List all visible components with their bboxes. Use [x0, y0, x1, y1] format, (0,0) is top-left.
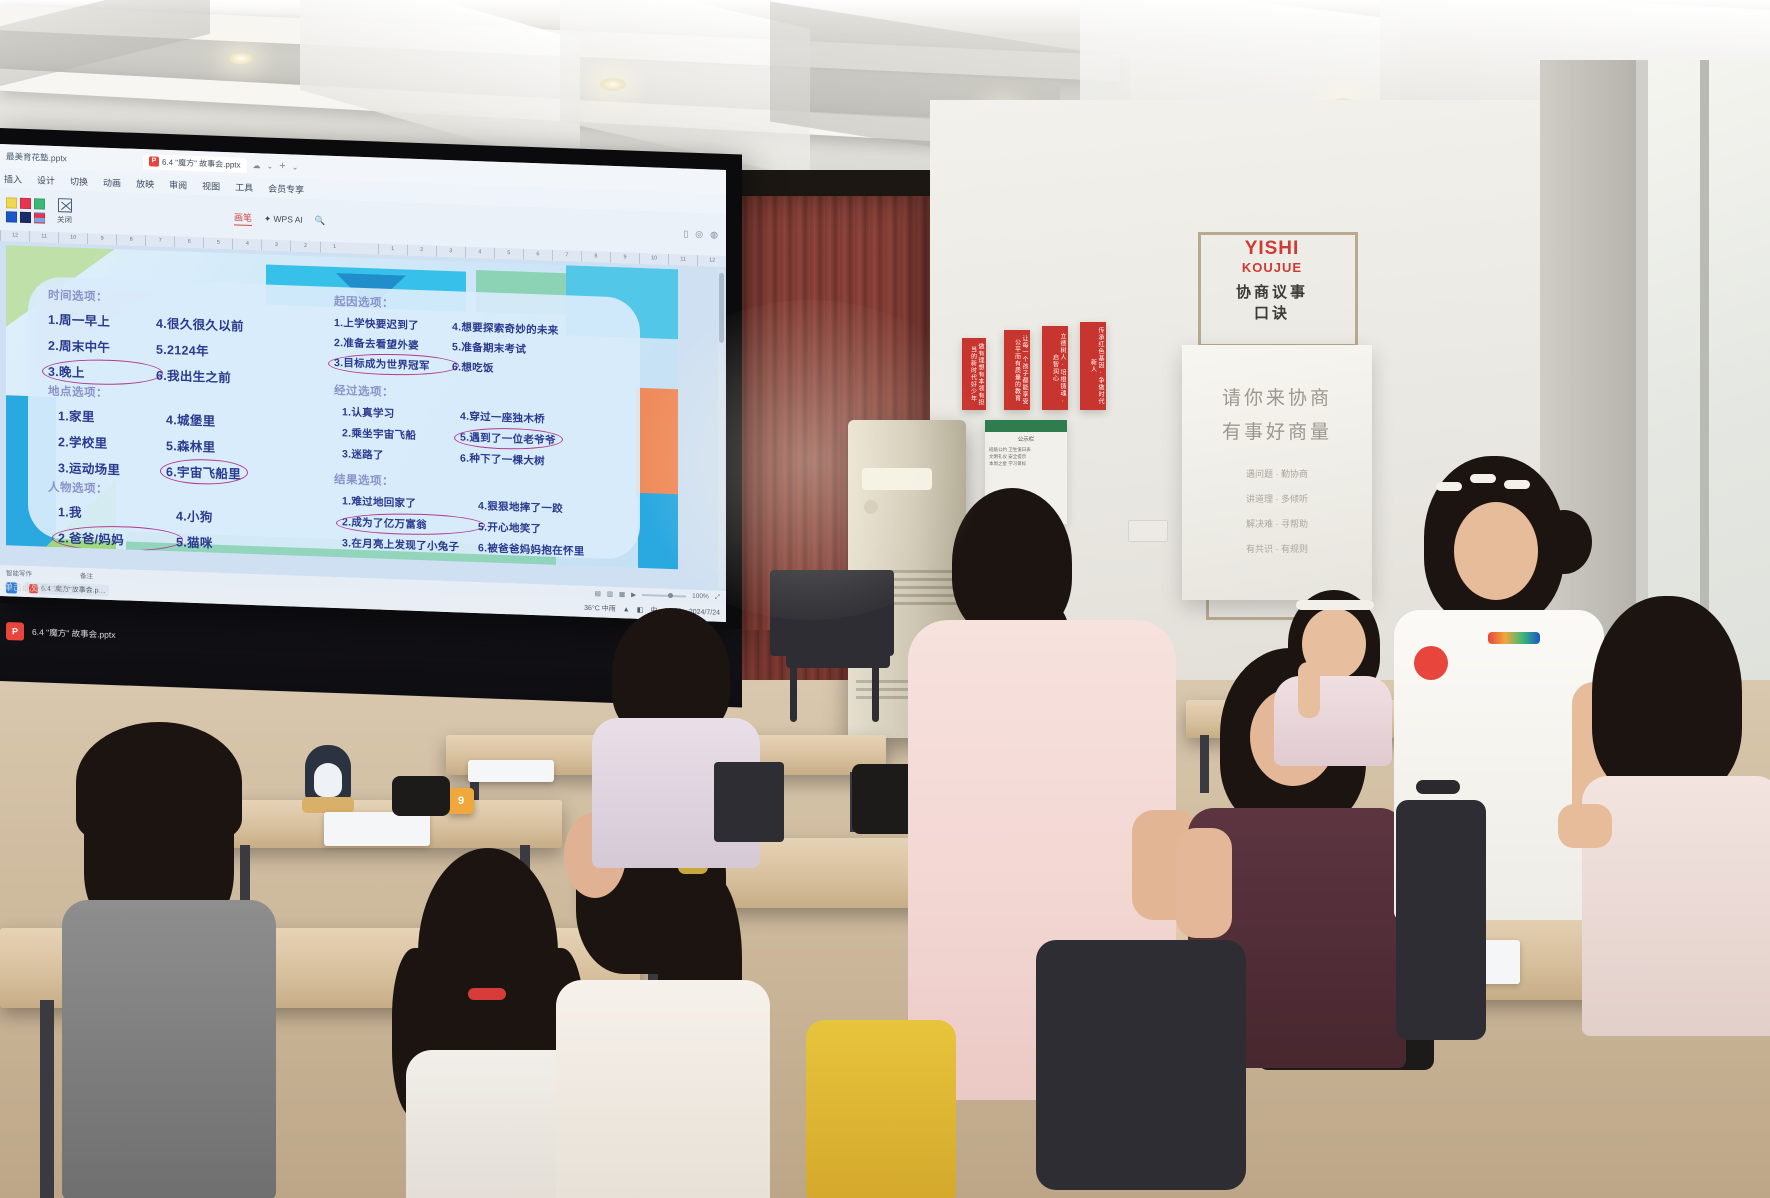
option-cell[interactable]: 6.我出生之前 [156, 365, 231, 387]
whiteboard-item-0: 遇问题 · 勤协商 [1182, 467, 1372, 480]
screen-app-label: 6.4 "魔方" 故事会.pptx [32, 626, 116, 641]
desk-leg [40, 1000, 54, 1198]
screen-glow [620, 300, 1000, 620]
option-cell[interactable]: 1.周一早上 [48, 309, 156, 332]
shirt-rainbow [1488, 632, 1540, 644]
powerpoint-icon: P [149, 156, 159, 166]
option-cell[interactable]: 5.准备期末考试 [452, 339, 526, 357]
yellow-bag[interactable] [806, 1020, 956, 1198]
option-cell[interactable]: 4.小狗 [176, 505, 213, 525]
wps-ai-button[interactable]: ✦ WPS AI [264, 213, 303, 225]
torso [556, 980, 770, 1198]
red-banner-3: 传承红色基因 · 争做时代新人 [1080, 322, 1106, 410]
reading-view-icon[interactable]: ▦ [619, 590, 625, 598]
close-pen-label: 关闭 [57, 214, 72, 226]
smart-writing-button[interactable]: 智能写作 [6, 567, 32, 578]
option-cell[interactable]: 5.猫咪 [176, 531, 213, 551]
color-swatch-grid[interactable] [6, 197, 45, 223]
whiteboard-line2: 有事好商量 [1182, 417, 1372, 444]
wps-ai-label: WPS AI [274, 213, 303, 224]
document-tab[interactable]: P 6.4 "魔方" 故事会.pptx [143, 154, 247, 173]
option-cell[interactable]: 4.狠狠地摔了一跤 [478, 498, 563, 516]
color-swatch[interactable] [6, 211, 17, 222]
option-cell[interactable]: 2.周末中午 [48, 335, 156, 358]
hair [1592, 596, 1742, 796]
note-icon[interactable]: ▯ [683, 228, 688, 239]
zoom-slider[interactable] [642, 593, 686, 597]
option-cell[interactable]: 4.很久很久以前 [156, 313, 244, 335]
slide-content[interactable]: 时间选项： 1.周一早上 4.很久很久以前 2.周末中午 5.2124年 3.晚… [6, 245, 678, 569]
chair-leg [790, 660, 797, 722]
ceiling-downlight [600, 78, 626, 91]
penguin-belly [314, 763, 342, 797]
dice-value: 9 [458, 795, 464, 807]
chair[interactable] [1036, 940, 1246, 1190]
hair-clip-2 [1504, 480, 1530, 489]
option-cell[interactable]: 1.认真学习 [342, 404, 460, 423]
worksheet-paper[interactable] [468, 760, 554, 782]
wrist-band [1416, 780, 1460, 794]
background-file-label: 最美育花塾.pptx [6, 150, 67, 164]
option-cell[interactable]: 3.运动场里 [58, 457, 166, 480]
arm [1298, 662, 1320, 718]
classroom-scene: 最美育花塾.pptx P 6.4 "魔方" 故事会.pptx ☁ ⌄ + ⌄ 插… [0, 0, 1770, 1198]
chair[interactable] [714, 762, 784, 842]
slide-group-place: 地点选项： 1.家里 4.城堡里 2.学校里 5.森林里 3.运动场里 6.宇宙… [48, 383, 241, 483]
color-swatch[interactable] [34, 198, 45, 209]
chevron-down-icon-2[interactable]: ⌄ [292, 162, 299, 171]
option-cell[interactable]: 2.学校里 [58, 431, 166, 454]
menu-item-5[interactable]: 审阅 [169, 178, 187, 192]
wall-display[interactable]: 最美育花塾.pptx P 6.4 "魔方" 故事会.pptx ☁ ⌄ + ⌄ 插… [0, 128, 742, 630]
ruler-tick [349, 248, 378, 249]
hair-tie-red [468, 988, 506, 1000]
wifi-icon[interactable]: ▲ [623, 606, 630, 613]
hair-bun [1536, 510, 1592, 574]
option-cell[interactable]: 2.准备去看望外婆 [334, 335, 452, 354]
torso [1274, 676, 1392, 766]
option-cell[interactable]: 6.想吃饭 [452, 359, 494, 375]
shirt-logo [1414, 646, 1448, 680]
option-cell[interactable]: 5.森林里 [166, 435, 215, 456]
color-swatch[interactable] [20, 211, 31, 222]
normal-view-icon[interactable]: ▤ [595, 589, 601, 597]
cloud-icon[interactable]: ☁ [253, 161, 261, 170]
clock-icon[interactable]: ◎ [695, 228, 703, 239]
penguin-toy[interactable] [305, 745, 351, 807]
weather-indicator[interactable]: 36°C 中雨 [584, 603, 616, 614]
option-cell[interactable]: 5.开心地笑了 [478, 519, 541, 536]
notice-board-line-0: 班级公约 卫生值日表 [989, 447, 1063, 454]
option-cell[interactable]: 6.外星人 [176, 557, 225, 569]
slide-canvas[interactable]: 时间选项： 1.周一早上 4.很久很久以前 2.周末中午 5.2124年 3.晚… [0, 241, 726, 591]
whiteboard-item-3: 有共识 · 有规则 [1182, 542, 1372, 555]
option-cell[interactable]: 2.乘坐宇宙飞船 [342, 425, 460, 444]
notes-button[interactable]: 备注 [80, 569, 93, 579]
whiteboard-sign: 请你来协商 有事好商量 遇问题 · 勤协商 讲道理 · 多倾听 解决难 · 寻帮… [1182, 345, 1372, 600]
option-cell[interactable]: 1.家里 [58, 405, 166, 428]
powerpoint-icon: P [6, 622, 24, 641]
ceiling-downlight [228, 52, 254, 65]
search-icon[interactable]: 🔍 [315, 215, 326, 226]
option-cell-selected[interactable]: 3.目标成为世界冠军 [334, 355, 452, 374]
slideshow-icon[interactable]: ▶ [631, 590, 636, 598]
sorter-view-icon[interactable]: ▥ [607, 589, 613, 597]
option-cell-selected[interactable]: 3.晚上 [48, 361, 156, 384]
menu-item-6[interactable]: 视图 [202, 179, 220, 193]
color-swatch[interactable] [34, 212, 45, 223]
slide-group-time: 时间选项： 1.周一早上 4.很久很久以前 2.周末中午 5.2124年 3.晚… [48, 287, 244, 387]
menu-item-4[interactable]: 放映 [136, 176, 154, 190]
notice-board-line-2: 本周之星 学习目标 [989, 461, 1063, 468]
option-cell[interactable]: 4.想要探索奇妙的未来 [452, 319, 559, 338]
wps-presentation-window[interactable]: 最美育花塾.pptx P 6.4 "魔方" 故事会.pptx ☁ ⌄ + ⌄ 插… [0, 144, 726, 622]
new-tab-button[interactable]: + [279, 160, 285, 172]
option-cell-selected[interactable]: 2.成为了亿万富翁 [342, 514, 478, 534]
whiteboard-item-1: 讲道理 · 多倾听 [1182, 492, 1372, 505]
user-icon[interactable]: ◍ [710, 229, 718, 240]
color-swatch[interactable] [6, 197, 17, 208]
notice-board-line-1: 文明礼仪 安全提示 [989, 454, 1063, 461]
slide-group-result: 结果选项： 1.难过地回家了 4.狠狠地摔了一跤 2.成为了亿万富翁 5.开心地… [334, 471, 585, 559]
menu-item-3[interactable]: 动画 [103, 175, 121, 189]
close-icon [58, 198, 72, 213]
whiteboard-line1: 请你来协商 [1182, 383, 1372, 410]
option-cell[interactable]: 1.我 [58, 501, 176, 524]
hair-clip-1 [1470, 474, 1496, 483]
ribbon-right-icons[interactable]: ▯ ◎ ◍ [683, 228, 726, 241]
option-cell-selected[interactable]: 2.爸爸/妈妈 [58, 527, 176, 550]
hair-clip-0 [1436, 482, 1462, 491]
slide-group-character: 人物选项： 1.我 4.小狗 2.爸爸/妈妈 5.猫咪 3.小花 6.外星人 [48, 479, 225, 570]
menu-item-7[interactable]: 工具 [235, 180, 253, 194]
menu-item-8[interactable]: 会员专享 [268, 181, 304, 195]
option-cell[interactable]: 1.上学快要迟到了 [334, 315, 452, 334]
slide-group-cause: 起因选项： 1.上学快要迟到了 4.想要探索奇妙的未来 2.准备去看望外婆 5.… [334, 293, 559, 378]
menu-item-2[interactable]: 切换 [70, 174, 88, 188]
option-cell-selected[interactable]: 5.遇到了一位老爷爷 [460, 429, 556, 447]
chair-leg [872, 660, 879, 722]
menu-item-0[interactable]: 插入 [4, 172, 22, 186]
hand [1558, 804, 1612, 848]
option-cell-selected[interactable]: 6.宇宙飞船里 [166, 461, 241, 483]
light-switch-plate[interactable] [1128, 520, 1168, 542]
red-banner-1: 让每一个孩子都能享受公平而有质量的教育 [1004, 330, 1030, 410]
whiteboard-item-2: 解决难 · 寻帮助 [1182, 517, 1372, 530]
document-tab-label: 6.4 "魔方" 故事会.pptx [162, 156, 241, 170]
head [1454, 502, 1538, 600]
option-cell[interactable]: 6.种下了一棵大树 [460, 450, 545, 468]
notice-board-title: 公示栏 [989, 436, 1063, 444]
option-cell[interactable]: 5.2124年 [156, 339, 209, 360]
headband [1296, 600, 1374, 610]
pen-tool-label[interactable]: 画笔 [234, 210, 252, 226]
red-banner-2: 立德树人 · 培根铸魂 · 启智润心 [1042, 326, 1068, 410]
option-cell[interactable]: 4.穿过一座独木桥 [460, 408, 545, 426]
backpack[interactable] [392, 776, 450, 816]
chair[interactable] [1396, 800, 1486, 1040]
worksheet-paper[interactable] [324, 812, 430, 846]
hair-front [76, 722, 242, 842]
option-cell[interactable]: 4.城堡里 [166, 409, 215, 430]
close-pen-button[interactable]: 关闭 [57, 198, 72, 226]
torso [62, 900, 276, 1198]
chevron-down-icon[interactable]: ⌄ [267, 161, 274, 170]
arm [1176, 828, 1232, 938]
slide-group-process: 经过选项： 1.认真学习 4.穿过一座独木桥 2.乘坐宇宙飞船 5.遇到了一位老… [334, 382, 556, 469]
penguin-base [302, 797, 354, 813]
desk-leg [1200, 735, 1209, 793]
menu-item-1[interactable]: 设计 [37, 173, 55, 187]
volume-icon[interactable]: ◧ [637, 606, 644, 614]
sign-frame-top [1198, 232, 1358, 347]
dice-9[interactable]: 9 [448, 788, 474, 814]
option-cell[interactable]: 1.难过地回家了 [342, 493, 478, 513]
color-swatch[interactable] [20, 197, 31, 208]
